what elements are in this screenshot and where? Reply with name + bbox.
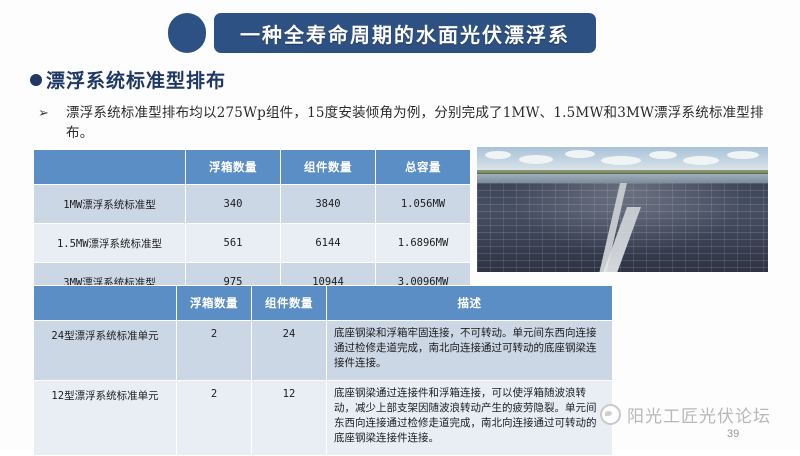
units-table: 浮箱数量 组件数量 描述 24型漂浮系统标准单元 2 24 底座钢梁和浮箱牢固连… bbox=[33, 285, 613, 456]
table-row: 1MW漂浮系统标准型 340 3840 1.056MW bbox=[34, 185, 471, 224]
table-header-row: 浮箱数量 组件数量 总容量 bbox=[34, 150, 471, 185]
column-header-blank bbox=[34, 150, 186, 185]
cell-modules: 6144 bbox=[281, 224, 376, 263]
cell-floats: 2 bbox=[177, 381, 252, 456]
cell-capacity: 1.6896MW bbox=[376, 224, 471, 263]
table-row: 1.5MW漂浮系统标准型 561 6144 1.6896MW bbox=[34, 224, 471, 263]
row-label: 1.5MW漂浮系统标准型 bbox=[34, 224, 186, 263]
column-header-floats: 浮箱数量 bbox=[177, 286, 252, 321]
watermark: 阳光工匠光伏论坛 bbox=[600, 402, 771, 427]
section-heading-label: 漂浮系统标准型排布 bbox=[46, 66, 226, 93]
table-header-row: 浮箱数量 组件数量 描述 bbox=[34, 286, 613, 321]
cloud-shape bbox=[565, 150, 595, 158]
cell-description: 底座钢梁通过连接件和浮箱连接，可以使浮箱随波浪转动，减少上部支架因随波浪转动产生… bbox=[327, 381, 613, 456]
capacity-table: 浮箱数量 组件数量 总容量 1MW漂浮系统标准型 340 3840 1.056M… bbox=[33, 149, 471, 302]
cell-capacity: 1.056MW bbox=[376, 185, 471, 224]
photo-glint bbox=[477, 183, 768, 272]
cell-modules: 3840 bbox=[281, 185, 376, 224]
title-box: 一种全寿命周期的水面光伏漂浮系 bbox=[214, 13, 596, 53]
table-row: 24型漂浮系统标准单元 2 24 底座钢梁和浮箱牢固连接，不可转动。单元间东西向… bbox=[34, 321, 613, 381]
cell-modules: 12 bbox=[252, 381, 327, 456]
column-header-capacity: 总容量 bbox=[376, 150, 471, 185]
floating-solar-array-photo bbox=[477, 147, 768, 272]
cell-modules: 24 bbox=[252, 321, 327, 381]
cloud-shape bbox=[519, 155, 553, 164]
column-header-modules: 组件数量 bbox=[252, 286, 327, 321]
bullet-dot-icon bbox=[30, 74, 42, 86]
cloud-shape bbox=[649, 151, 677, 159]
column-header-blank bbox=[34, 286, 177, 321]
cloud-shape bbox=[485, 151, 511, 159]
slide-canvas: 一种全寿命周期的水面光伏漂浮系 漂浮系统标准型排布 ➢ 漂浮系统标准型排布均以2… bbox=[0, 0, 800, 450]
watermark-text: 阳光工匠光伏论坛 bbox=[627, 402, 771, 427]
title-banner: 一种全寿命周期的水面光伏漂浮系 bbox=[168, 13, 596, 53]
body-paragraph-text: 漂浮系统标准型排布均以275Wp组件，15度安装倾角为例，分别完成了1MW、1.… bbox=[66, 103, 766, 143]
column-header-floats: 浮箱数量 bbox=[186, 150, 281, 185]
arrow-bullet-icon: ➢ bbox=[38, 103, 66, 123]
column-header-modules: 组件数量 bbox=[281, 150, 376, 185]
row-label: 1MW漂浮系统标准型 bbox=[34, 185, 186, 224]
cell-floats: 561 bbox=[186, 224, 281, 263]
row-label: 12型漂浮系统标准单元 bbox=[34, 381, 177, 456]
section-heading: 漂浮系统标准型排布 bbox=[30, 66, 226, 93]
row-label: 24型漂浮系统标准单元 bbox=[34, 321, 177, 381]
page-number: 39 bbox=[727, 428, 739, 440]
cloud-shape bbox=[601, 156, 641, 165]
body-paragraph: ➢ 漂浮系统标准型排布均以275Wp组件，15度安装倾角为例，分别完成了1MW、… bbox=[38, 103, 768, 143]
page-title: 一种全寿命周期的水面光伏漂浮系 bbox=[240, 19, 570, 48]
table-row: 12型漂浮系统标准单元 2 12 底座钢梁通过连接件和浮箱连接，可以使浮箱随波浪… bbox=[34, 381, 613, 456]
cell-floats: 340 bbox=[186, 185, 281, 224]
cloud-shape bbox=[727, 151, 759, 159]
title-accent-pill bbox=[168, 13, 206, 53]
cloud-shape bbox=[683, 156, 719, 165]
watermark-logo-icon bbox=[600, 404, 621, 425]
cell-description: 底座钢梁和浮箱牢固连接，不可转动。单元间东西向连接通过检修走道完成，南北向连接通… bbox=[327, 321, 613, 381]
cell-floats: 2 bbox=[177, 321, 252, 381]
column-header-description: 描述 bbox=[327, 286, 613, 321]
